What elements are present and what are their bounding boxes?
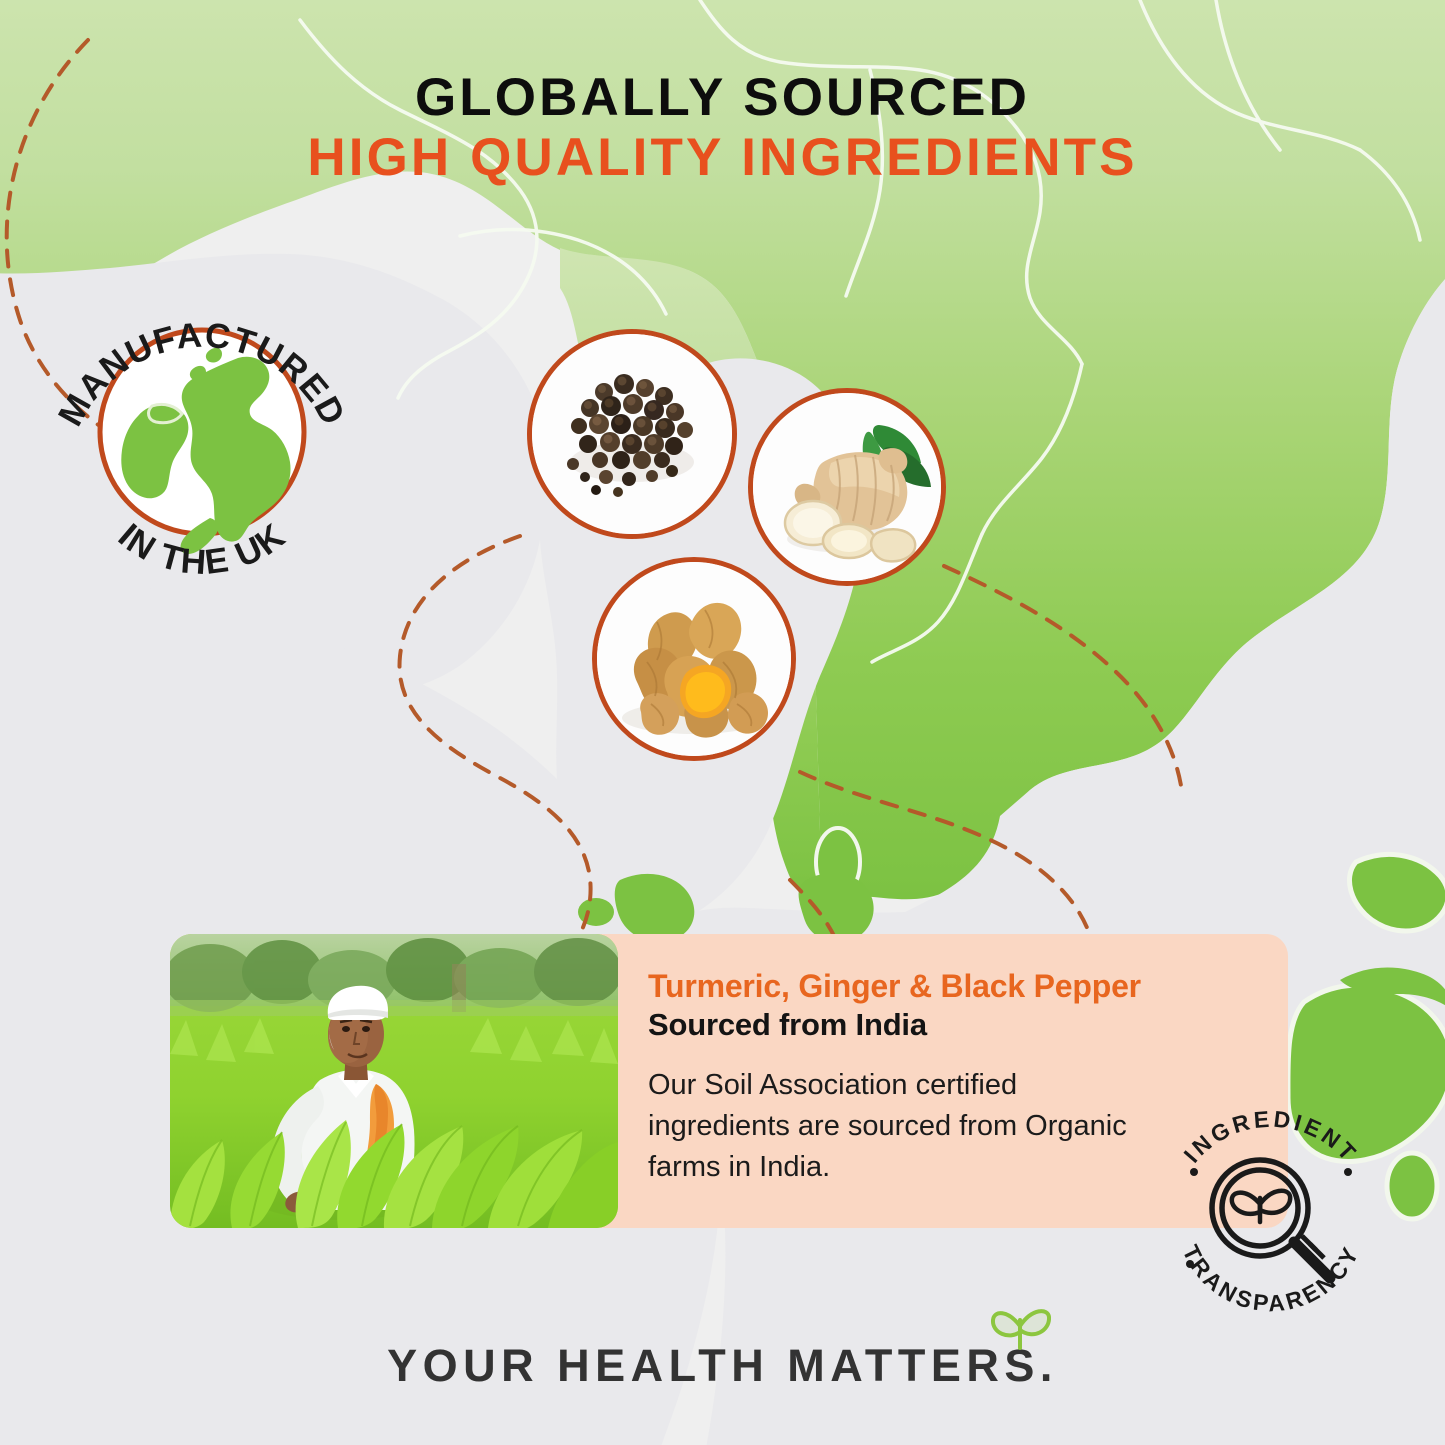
ginger-circle — [748, 388, 946, 586]
headline-line-2: HIGH QUALITY INGREDIENTS — [0, 126, 1445, 191]
infographic-root: GLOBALLY SOURCED HIGH QUALITY INGREDIENT… — [0, 0, 1445, 1445]
card-title-origin: Sourced from India — [648, 1006, 1208, 1043]
ingredient-transparency-badge: INGREDIENT TRANSPARENCY — [1152, 1098, 1390, 1336]
footer-tagline-text: YOUR HEALTH MATTERS. — [387, 1340, 1058, 1392]
footer-tagline: YOUR HEALTH MATTERS. — [0, 1340, 1445, 1392]
manufactured-in-the-uk-badge: MANUFACTURED IN THE UK — [42, 272, 362, 592]
turmeric-circle — [592, 557, 796, 761]
magnifier-leaf-icon — [1212, 1160, 1330, 1278]
card-body-text: Our Soil Association certified ingredien… — [648, 1065, 1148, 1188]
transparency-badge-top-label: INGREDIENT — [1179, 1106, 1364, 1168]
card-text-block: Turmeric, Ginger & Black Pepper Sourced … — [648, 968, 1208, 1188]
sprout-leaf-icon — [989, 1304, 1051, 1350]
farmer-photo — [170, 934, 618, 1228]
black-pepper-circle — [527, 329, 737, 539]
headline-line-1: GLOBALLY SOURCED — [0, 70, 1445, 126]
card-title-ingredients: Turmeric, Ginger & Black Pepper — [648, 968, 1208, 1006]
headline-block: GLOBALLY SOURCED HIGH QUALITY INGREDIENT… — [0, 70, 1445, 191]
